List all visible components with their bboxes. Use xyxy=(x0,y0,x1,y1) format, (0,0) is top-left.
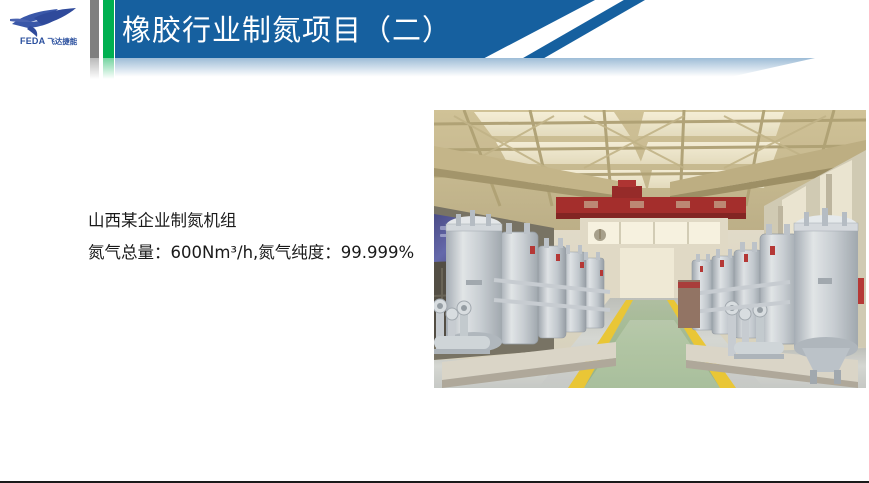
logo-latin: FEDA xyxy=(20,36,45,46)
accent-bar-green xyxy=(103,0,114,58)
caption-block: 山西某企业制氮机组 氮气总量：600Nm³/h,氮气纯度：99.999% xyxy=(88,205,448,269)
accent-bar-gray-reflection xyxy=(90,58,99,79)
slide-header: FEDA飞达捷能 橡胶行业制氮项目（二） xyxy=(0,0,869,80)
title-banner-reflection xyxy=(115,58,815,80)
caption-line-1: 山西某企业制氮机组 xyxy=(88,205,448,237)
photo-illustration xyxy=(434,110,866,388)
page-title: 橡胶行业制氮项目（二） xyxy=(122,8,452,52)
logo-wordmark: FEDA飞达捷能 xyxy=(20,36,77,47)
logo-chinese: 飞达捷能 xyxy=(47,37,77,46)
company-logo: FEDA飞达捷能 xyxy=(8,6,88,52)
accent-bar-green-reflection xyxy=(103,58,114,79)
presentation-slide: FEDA飞达捷能 橡胶行业制氮项目（二） 山西某企业制氮机组 氮气总量：600N… xyxy=(0,0,869,483)
accent-bar-gray xyxy=(90,0,99,58)
nitrogen-plant-photo xyxy=(434,110,866,388)
caption-line-2: 氮气总量：600Nm³/h,氮气纯度：99.999% xyxy=(88,237,448,269)
